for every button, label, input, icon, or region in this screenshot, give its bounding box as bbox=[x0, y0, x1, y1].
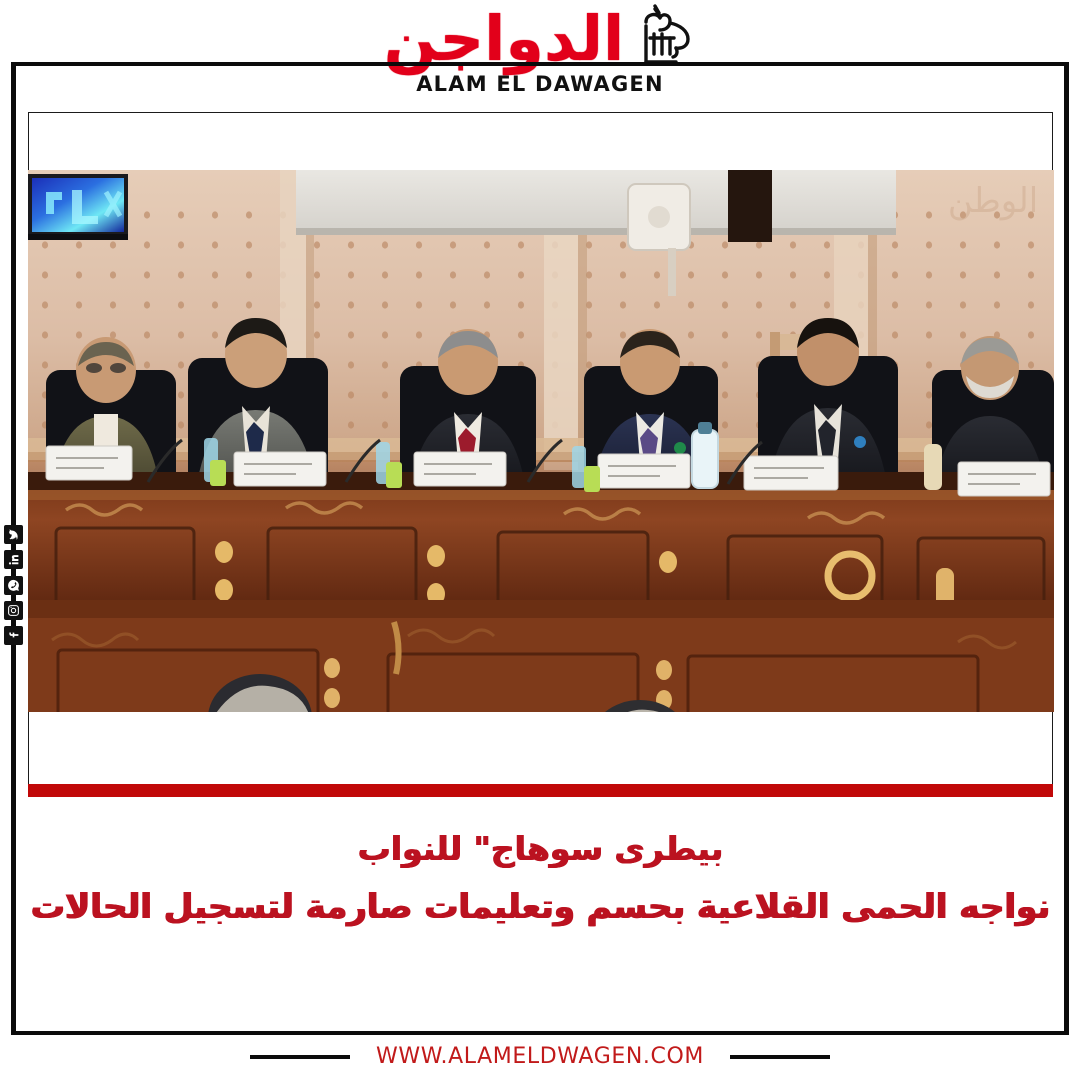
footer-dash-left bbox=[250, 1055, 350, 1059]
red-divider bbox=[28, 784, 1053, 797]
poster-canvas: الدواجن bbox=[0, 0, 1080, 1080]
headline-block: بيطرى سوهاج" للنواب نواجه الحمى القلاعية… bbox=[28, 826, 1053, 932]
footer-bar: WWW.ALAMELDWAGEN.COM bbox=[0, 1033, 1080, 1080]
twitter-icon[interactable] bbox=[4, 525, 23, 544]
brand-logo: الدواجن bbox=[0, 4, 1080, 108]
headline-line-1: بيطرى سوهاج" للنواب bbox=[28, 826, 1053, 872]
news-photo: الوطن bbox=[28, 170, 1054, 712]
logo-arabic-wordmark: الدواجن bbox=[384, 8, 625, 70]
social-links-strip bbox=[0, 525, 26, 645]
facebook-icon[interactable] bbox=[4, 626, 23, 645]
footer-website-url[interactable]: WWW.ALAMELDWAGEN.COM bbox=[376, 1044, 704, 1069]
linkedin-icon[interactable] bbox=[4, 550, 23, 569]
headline-line-2: نواجه الحمى القلاعية بحسم وتعليمات صارمة… bbox=[28, 882, 1053, 932]
frame-right-border bbox=[1064, 62, 1069, 1035]
footer-dash-right bbox=[730, 1055, 830, 1059]
whatsapp-icon[interactable] bbox=[4, 576, 23, 595]
svg-text:الوطن: الوطن bbox=[948, 181, 1038, 221]
instagram-icon[interactable] bbox=[4, 601, 23, 620]
logo-subtitle: ALAM EL DAWAGEN bbox=[416, 72, 664, 96]
frame-top-border bbox=[11, 62, 1069, 66]
